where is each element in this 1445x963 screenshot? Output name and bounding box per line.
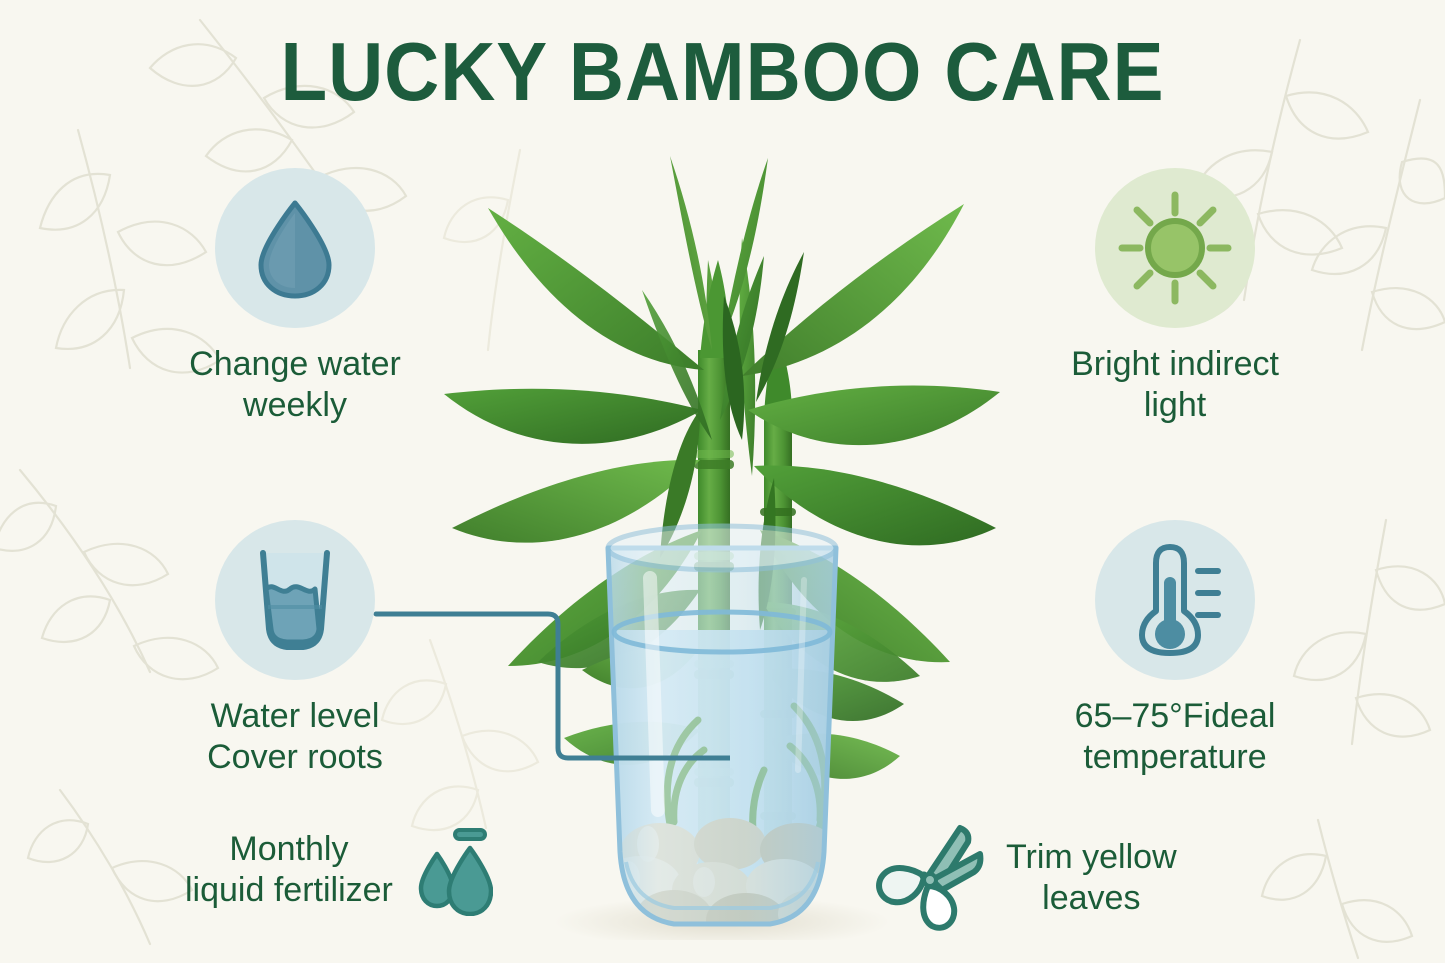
feature-bright-light: Bright indirect light — [1000, 168, 1350, 427]
fertilizer-drops-icon — [415, 824, 493, 916]
thermometer-icon — [1120, 541, 1230, 659]
bright-light-caption: Bright indirect light — [1000, 344, 1350, 427]
glass-of-water-icon — [241, 545, 349, 655]
fertilizer-caption: Monthly liquid fertilizer — [185, 829, 393, 912]
feature-trim-leaves: Trim yellow leaves — [872, 824, 1177, 932]
scissors-icon — [872, 824, 984, 932]
sun-icon — [1116, 189, 1234, 307]
lucky-bamboo-illustration — [412, 110, 1032, 940]
bright-light-badge — [1095, 168, 1255, 328]
feature-fertilizer: Monthly liquid fertilizer — [185, 824, 493, 916]
page-title: LUCKY BAMBOO CARE — [58, 30, 1387, 113]
infographic-canvas: LUCKY BAMBOO CARE — [0, 0, 1445, 963]
temperature-caption: 65–75°Fideal temperature — [1000, 696, 1350, 779]
water-level-caption: Water level Cover roots — [120, 696, 470, 779]
trim-leaves-caption: Trim yellow leaves — [1006, 837, 1177, 920]
feature-temperature: 65–75°Fideal temperature — [1000, 520, 1350, 779]
feature-change-water: Change water weekly — [120, 168, 470, 427]
feature-water-level: Water level Cover roots — [120, 520, 470, 779]
change-water-caption: Change water weekly — [120, 344, 470, 427]
water-level-badge — [215, 520, 375, 680]
change-water-badge — [215, 168, 375, 328]
water-drop-icon — [249, 197, 341, 299]
temperature-badge — [1095, 520, 1255, 680]
